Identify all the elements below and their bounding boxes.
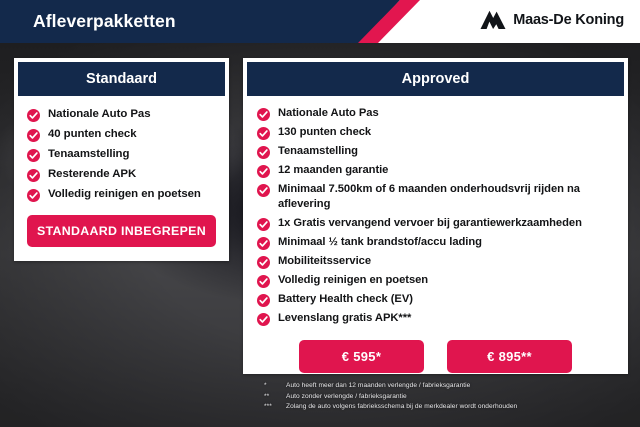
feature-item: Tenaamstelling <box>27 147 216 162</box>
feature-item: Nationale Auto Pas <box>257 106 614 121</box>
feature-item: Tenaamstelling <box>257 144 614 159</box>
footnotes-block: *Auto heeft meer dan 12 maanden verlengd… <box>264 381 634 413</box>
check-circle-icon <box>257 146 270 159</box>
feature-label: Tenaamstelling <box>278 144 358 159</box>
standaard-card-body: Nationale Auto Pas40 punten checkTenaams… <box>14 96 229 261</box>
check-circle-icon <box>257 165 270 178</box>
feature-item: Battery Health check (EV) <box>257 292 614 307</box>
feature-item: 130 punten check <box>257 125 614 140</box>
feature-label: 1x Gratis vervangend vervoer bij garanti… <box>278 216 582 231</box>
brand-name: Maas-De Koning <box>513 12 624 28</box>
feature-label: Battery Health check (EV) <box>278 292 413 307</box>
feature-label: 40 punten check <box>48 127 137 142</box>
standaard-package-card: Standaard Nationale Auto Pas40 punten ch… <box>14 58 229 261</box>
price-button-1[interactable]: € 595* <box>299 340 424 373</box>
footnote-row: **Auto zonder verlengde / fabrieksgarant… <box>264 392 634 403</box>
feature-item: 1x Gratis vervangend vervoer bij garanti… <box>257 216 614 231</box>
feature-label: Nationale Auto Pas <box>278 106 379 121</box>
footnote-row: *Auto heeft meer dan 12 maanden verlengd… <box>264 381 634 392</box>
approved-package-card: Approved Nationale Auto Pas130 punten ch… <box>243 58 628 374</box>
check-circle-icon <box>257 275 270 288</box>
footnote-marker: *** <box>264 402 286 413</box>
footnote-row: ***Zolang de auto volgens fabrieksschema… <box>264 402 634 413</box>
feature-label: Tenaamstelling <box>48 147 129 162</box>
check-circle-icon <box>27 109 40 122</box>
feature-label: Mobiliteitsservice <box>278 254 371 269</box>
check-circle-icon <box>257 127 270 140</box>
feature-label: Nationale Auto Pas <box>48 107 150 122</box>
brand-logo: Maas-De Koning <box>480 10 624 30</box>
feature-label: Levenslang gratis APK*** <box>278 311 411 326</box>
feature-label: Resterende APK <box>48 167 136 182</box>
feature-item: Volledig reinigen en poetsen <box>27 187 216 202</box>
page-title: Afleverpakketten <box>33 11 176 32</box>
approved-price-row: € 595*€ 895** <box>257 340 614 373</box>
check-circle-icon <box>257 218 270 231</box>
page-header: Afleverpakketten Maas-De Koning <box>0 0 640 43</box>
check-circle-icon <box>257 184 270 197</box>
standaard-feature-list: Nationale Auto Pas40 punten checkTenaams… <box>27 107 216 202</box>
feature-item: Minimaal 7.500km of 6 maanden onderhouds… <box>257 182 614 212</box>
feature-item: Mobiliteitsservice <box>257 254 614 269</box>
feature-item: Resterende APK <box>27 167 216 182</box>
feature-item: Volledig reinigen en poetsen <box>257 273 614 288</box>
feature-item: 12 maanden garantie <box>257 163 614 178</box>
footnote-marker: * <box>264 381 286 392</box>
footnote-text: Zolang de auto volgens fabrieksschema bi… <box>286 402 517 413</box>
approved-feature-list: Nationale Auto Pas130 punten checkTenaam… <box>257 106 614 326</box>
feature-label: Minimaal 7.500km of 6 maanden onderhouds… <box>278 182 614 212</box>
feature-item: 40 punten check <box>27 127 216 142</box>
check-circle-icon <box>257 237 270 250</box>
standaard-card-title: Standaard <box>18 62 225 96</box>
check-circle-icon <box>257 108 270 121</box>
check-circle-icon <box>27 189 40 202</box>
check-circle-icon <box>27 129 40 142</box>
check-circle-icon <box>257 256 270 269</box>
feature-label: 12 maanden garantie <box>278 163 388 178</box>
check-circle-icon <box>27 149 40 162</box>
maas-de-koning-m-logo-icon <box>480 10 506 30</box>
feature-label: Volledig reinigen en poetsen <box>278 273 428 288</box>
approved-card-body: Nationale Auto Pas130 punten checkTenaam… <box>243 96 628 385</box>
check-circle-icon <box>257 294 270 307</box>
feature-item: Nationale Auto Pas <box>27 107 216 122</box>
afleverpakketten-page: Afleverpakketten Maas-De Koning Standaar… <box>0 0 640 427</box>
footnote-text: Auto zonder verlengde / fabrieksgarantie <box>286 392 407 403</box>
price-button-2[interactable]: € 895** <box>447 340 572 373</box>
feature-label: Volledig reinigen en poetsen <box>48 187 201 202</box>
approved-card-title: Approved <box>247 62 624 96</box>
feature-label: 130 punten check <box>278 125 371 140</box>
feature-label: Minimaal ½ tank brandstof/accu lading <box>278 235 482 250</box>
feature-item: Levenslang gratis APK*** <box>257 311 614 326</box>
check-circle-icon <box>257 313 270 326</box>
footnote-text: Auto heeft meer dan 12 maanden verlengde… <box>286 381 470 392</box>
check-circle-icon <box>27 169 40 182</box>
standaard-inbegrepen-button[interactable]: STANDAARD INBEGREPEN <box>27 215 216 247</box>
feature-item: Minimaal ½ tank brandstof/accu lading <box>257 235 614 250</box>
footnote-marker: ** <box>264 392 286 403</box>
